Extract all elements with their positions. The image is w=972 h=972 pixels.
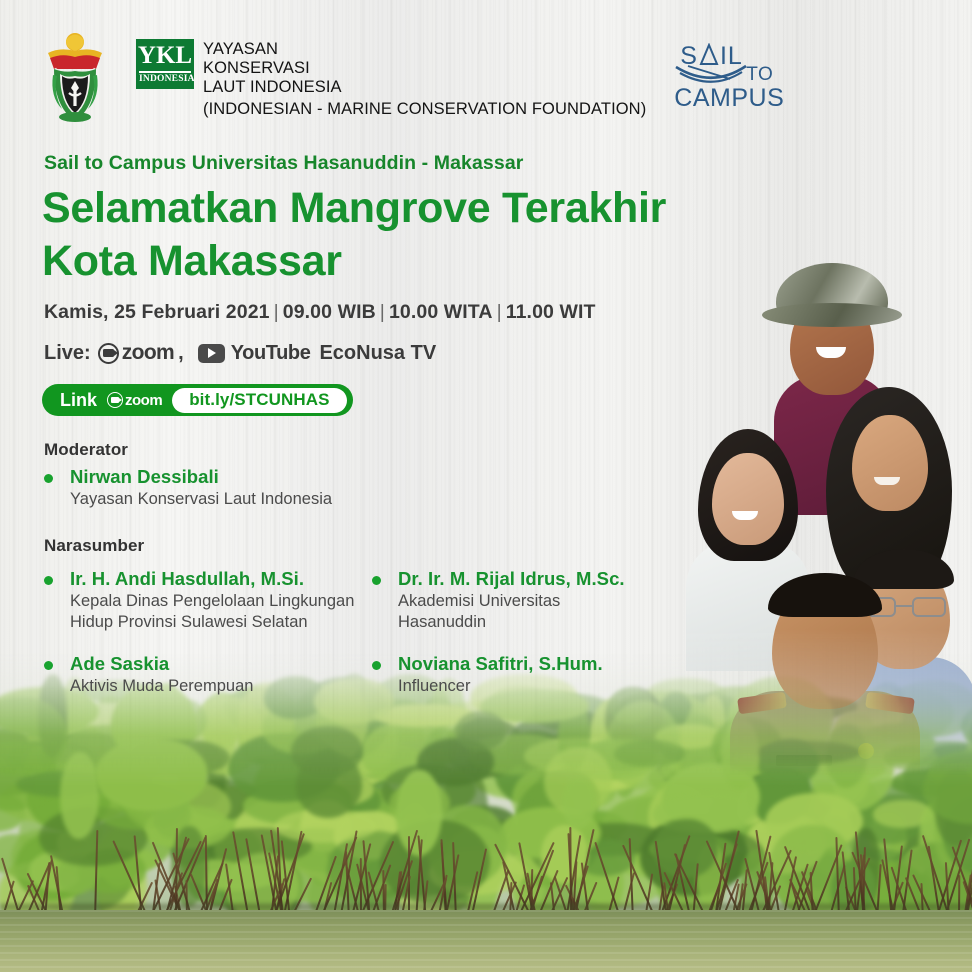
ykl-badge: YKL INDONESIA	[136, 39, 194, 89]
live-platforms: Live: zoom , YouTube EcoNusa TV	[44, 341, 436, 365]
moderator-section-label: Moderator	[44, 440, 128, 460]
event-date: Kamis, 25 Februari 2021	[44, 301, 270, 323]
sail-word-campus: CAMPUS	[674, 85, 784, 111]
universitas-hasanuddin-crest-icon	[40, 31, 110, 127]
event-datetime: Kamis, 25 Februari 2021|09.00 WIB|10.00 …	[44, 301, 596, 324]
pill-zoom-logo: zoom	[107, 392, 162, 409]
bullet-icon	[44, 576, 53, 585]
uniform-badge	[858, 743, 874, 759]
bullet-icon	[44, 661, 53, 670]
ykl-wordmark: YAYASAN KONSERVASI LAUT INDONESIA (INDON…	[203, 39, 646, 119]
event-time-wib: 09.00 WIB	[283, 301, 376, 323]
speaker-role-line-2: Hidup Provinsi Sulawesi Selatan	[70, 612, 354, 633]
page-title: Selamatkan Mangrove Terakhir Kota Makass…	[42, 182, 722, 288]
live-comma: ,	[178, 342, 184, 365]
youtube-channel-name: EcoNusa TV	[319, 342, 436, 365]
name-tag	[776, 755, 832, 766]
datetime-separator-1: |	[270, 301, 283, 323]
datetime-separator-2: |	[376, 301, 389, 323]
speaker-role-line-1: Akademisi Universitas	[398, 591, 625, 612]
youtube-play-icon	[198, 344, 225, 363]
event-time-wit: 11.00 WIT	[506, 301, 596, 323]
title-line-2: Kota Makassar	[42, 235, 722, 288]
speakers-section-label: Narasumber	[44, 536, 144, 556]
ykl-line-2: KONSERVASI	[203, 59, 646, 78]
mangrove-water	[0, 910, 972, 972]
speaker-entry: Ir. H. Andi Hasdullah, M.Si. Kepala Dina…	[44, 567, 354, 633]
portrait-head	[712, 453, 784, 545]
link-label: Link	[60, 390, 97, 411]
sail-word-to: TO	[746, 65, 773, 84]
speaker-name: Noviana Safitri, S.Hum.	[398, 652, 603, 676]
speaker-role-line-1: Kepala Dinas Pengelolaan Lingkungan	[70, 591, 354, 612]
ykl-subtitle: (INDONESIAN - MARINE CONSERVATION FOUNDA…	[203, 100, 646, 119]
event-kicker: Sail to Campus Universitas Hasanuddin - …	[44, 152, 523, 175]
zoom-wordmark: zoom	[122, 341, 174, 365]
bucket-hat-brim	[762, 303, 902, 327]
speaker-name: Ade Saskia	[70, 652, 253, 676]
sail-to-campus-logo: S IL TO CAMPUS	[672, 39, 796, 119]
logo-row: YKL INDONESIA YAYASAN KONSERVASI LAUT IN…	[40, 30, 796, 128]
hair	[768, 573, 882, 617]
speaker-entry: Dr. Ir. M. Rijal Idrus, M.Sc. Akademisi …	[372, 567, 625, 633]
youtube-wordmark: YouTube	[231, 342, 311, 365]
portrait-head	[852, 415, 928, 511]
youtube-logo[interactable]: YouTube	[198, 342, 311, 365]
title-line-1: Selamatkan Mangrove Terakhir	[42, 182, 722, 235]
zoom-logo[interactable]: zoom	[98, 341, 174, 365]
ykl-badge-main: YKL	[138, 43, 192, 68]
datetime-separator-3: |	[493, 301, 506, 323]
ykl-logo: YKL INDONESIA YAYASAN KONSERVASI LAUT IN…	[136, 39, 646, 119]
zoom-camera-icon	[98, 343, 119, 364]
speaker-role-line-1: Influencer	[398, 676, 603, 697]
moderator-role: Yayasan Konservasi Laut Indonesia	[70, 489, 332, 510]
speaker-collage	[652, 255, 972, 775]
speaker-entry: Noviana Safitri, S.Hum. Influencer	[372, 652, 603, 697]
pill-zoom-wordmark: zoom	[125, 392, 162, 409]
speaker-name: Dr. Ir. M. Rijal Idrus, M.Sc.	[398, 567, 625, 591]
ykl-badge-sub: INDONESIA	[139, 71, 191, 86]
poster-canvas: YKL INDONESIA YAYASAN KONSERVASI LAUT IN…	[0, 0, 972, 972]
bullet-icon	[44, 474, 53, 483]
speaker-entry: Ade Saskia Aktivis Muda Perempuan	[44, 652, 253, 697]
moderator-entry: Nirwan Dessibali Yayasan Konservasi Laut…	[44, 465, 332, 510]
live-label: Live:	[44, 342, 91, 365]
zoom-link-pill[interactable]: Link zoom bit.ly/STCUNHAS	[42, 384, 353, 416]
bullet-icon	[372, 576, 381, 585]
ykl-line-1: YAYASAN	[203, 40, 646, 59]
speaker-role-line-2: Hasanuddin	[398, 612, 625, 633]
bullet-icon	[372, 661, 381, 670]
registration-url[interactable]: bit.ly/STCUNHAS	[172, 388, 346, 413]
speaker-name: Ir. H. Andi Hasdullah, M.Si.	[70, 567, 354, 591]
moderator-name: Nirwan Dessibali	[70, 465, 332, 489]
event-time-wita: 10.00 WITA	[389, 301, 493, 323]
speaker-role-line-1: Aktivis Muda Perempuan	[70, 676, 253, 697]
pill-zoom-camera-icon	[107, 392, 123, 408]
ykl-line-3: LAUT INDONESIA	[203, 78, 646, 97]
